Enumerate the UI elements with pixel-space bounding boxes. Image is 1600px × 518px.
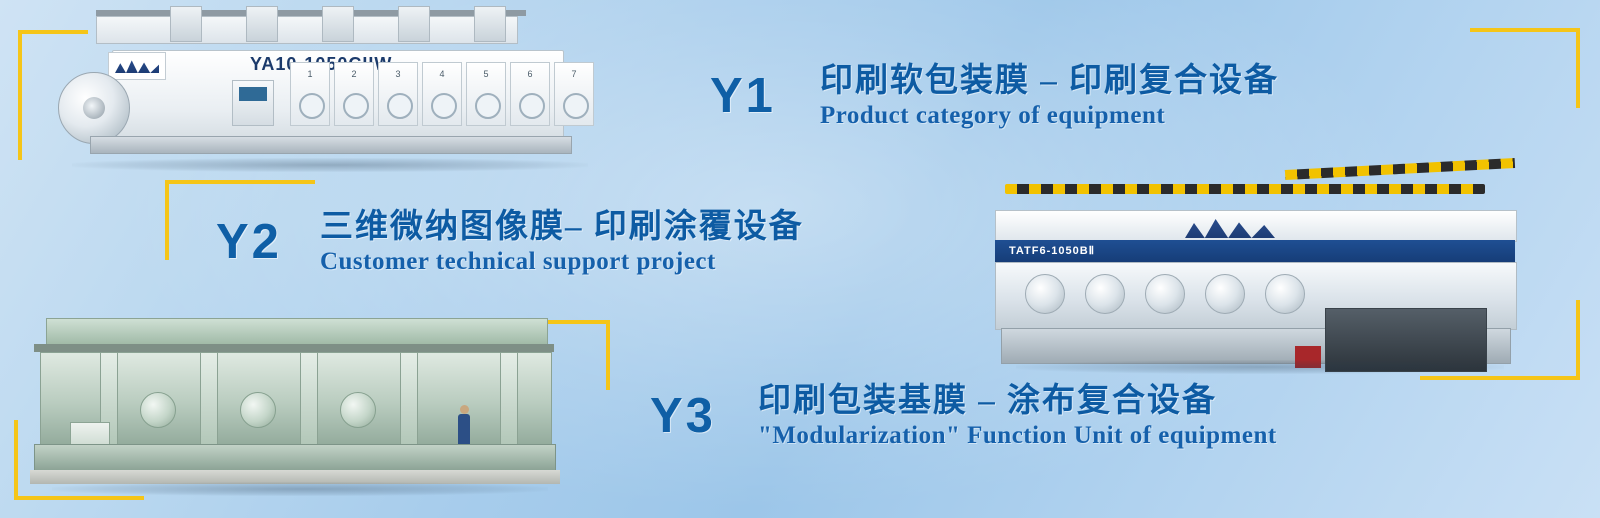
paper-line-rail (34, 344, 554, 352)
press-unit-number: 1 (291, 69, 329, 79)
row-y2-title-cn: 三维微纳图像膜– 印刷涂覆设备 (320, 208, 804, 247)
row-y2-code: Y2 (216, 214, 282, 270)
press-brand-logo-icon (108, 52, 166, 80)
row-y3-code: Y3 (650, 388, 716, 444)
machine-paper-line (30, 310, 570, 490)
press-unit-number: 4 (423, 69, 461, 79)
laminator-model-label: TATF6-1050BⅡ (1009, 244, 1095, 257)
press-print-unit: 2 (334, 62, 374, 126)
press-head-2 (246, 6, 278, 42)
press-unit-number: 5 (467, 69, 505, 79)
row-y2-title-en: Customer technical support project (320, 247, 804, 277)
row-y3-title-cn: 印刷包装基膜 – 涂布复合设备 (758, 382, 1277, 421)
laminator-roller (1205, 274, 1245, 314)
laminator-roller (1025, 274, 1065, 314)
row-y1-title-en: Product category of equipment (820, 101, 1279, 131)
machine-gravure-press: YA10-1050CIIW 1 2 3 4 5 6 7 (50, 6, 610, 166)
press-base-frame (90, 136, 572, 154)
row-y1-code: Y1 (710, 68, 776, 124)
machine-coating-laminator: TATF6-1050BⅡ (995, 158, 1525, 368)
bracket-top-right (1470, 28, 1580, 108)
press-top-deck (96, 16, 518, 44)
row-y3-title-en: "Modularization" Function Unit of equipm… (758, 421, 1277, 451)
press-head-5 (474, 6, 506, 42)
press-shadow (72, 158, 587, 172)
paper-line-roller (340, 392, 376, 428)
row-y2-texts: 三维微纳图像膜– 印刷涂覆设备 Customer technical suppo… (320, 208, 804, 277)
paper-line-roller (140, 392, 176, 428)
row-y1: Y1 印刷软包装膜 – 印刷复合设备 Product category of e… (710, 62, 1279, 131)
press-print-unit: 3 (378, 62, 418, 126)
press-print-unit: 6 (510, 62, 550, 126)
row-y3: Y3 印刷包装基膜 – 涂布复合设备 "Modularization" Func… (650, 382, 1277, 451)
press-print-unit: 5 (466, 62, 506, 126)
press-unwind-roll (58, 72, 130, 144)
press-print-unit: 4 (422, 62, 462, 126)
laminator-roller (1145, 274, 1185, 314)
press-head-1 (170, 6, 202, 42)
press-head-4 (398, 6, 430, 42)
press-unit-number: 6 (511, 69, 549, 79)
press-unit-number: 2 (335, 69, 373, 79)
paper-line-upper-platform (46, 318, 548, 346)
product-banner: YA10-1050CIIW 1 2 3 4 5 6 7 TATF6-1050BⅡ (0, 0, 1600, 518)
press-unit-number: 3 (379, 69, 417, 79)
row-y2: Y2 三维微纳图像膜– 印刷涂覆设备 Customer technical su… (216, 208, 804, 277)
paper-line-shadow (52, 482, 549, 496)
press-print-unit: 7 (554, 62, 594, 126)
laminator-shadow (1016, 360, 1504, 374)
press-unit-number: 7 (555, 69, 593, 79)
row-y1-texts: 印刷软包装膜 – 印刷复合设备 Product category of equi… (820, 62, 1279, 131)
row-y3-texts: 印刷包装基膜 – 涂布复合设备 "Modularization" Functio… (758, 382, 1277, 451)
paper-line-roller (240, 392, 276, 428)
laminator-safety-gantry-upper (1285, 158, 1515, 180)
laminator-roller (1265, 274, 1305, 314)
paper-line-base (34, 444, 556, 472)
press-print-unit: 1 (290, 62, 330, 126)
press-control-panel (232, 80, 274, 126)
laminator-safety-gantry (1005, 184, 1485, 194)
row-y1-title-cn: 印刷软包装膜 – 印刷复合设备 (820, 62, 1279, 101)
laminator-roller (1085, 274, 1125, 314)
press-head-3 (322, 6, 354, 42)
